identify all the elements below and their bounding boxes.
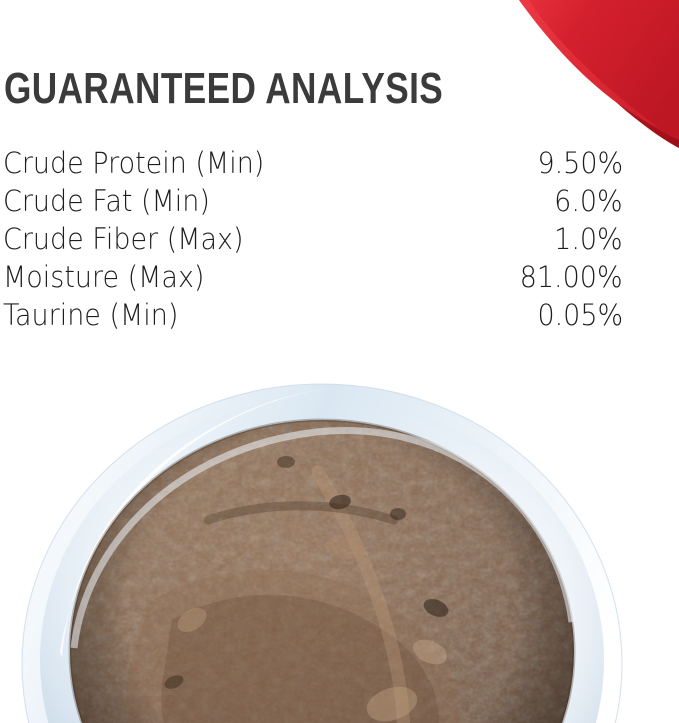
swoosh-highlight-edge: [519, 0, 659, 128]
swoosh-main-shape: [519, 0, 679, 140]
nutrient-value: 0.05%: [537, 298, 623, 332]
nutrient-label: Taurine (Min): [3, 298, 178, 332]
nutrient-label: Moisture (Max): [3, 260, 204, 294]
guaranteed-analysis-panel: GUARANTEED ANALYSIS Crude Protein (Min) …: [0, 0, 679, 723]
nutrient-label: Crude Fiber (Max): [3, 222, 244, 256]
guaranteed-analysis-table: Crude Protein (Min) 9.50% Crude Fat (Min…: [3, 146, 623, 336]
nutrient-value: 81.00%: [520, 260, 623, 294]
nutrient-value: 9.50%: [537, 146, 623, 180]
swoosh-shadow-shape: [531, 0, 679, 148]
pate-food-surface: [40, 402, 610, 723]
nutrient-label: Crude Fat (Min): [3, 184, 210, 218]
nutrient-value: 6.0%: [554, 184, 623, 218]
page-title: GUARANTEED ANALYSIS: [4, 66, 443, 112]
nutrient-label: Crude Protein (Min): [3, 146, 264, 180]
table-row: Crude Protein (Min) 9.50%: [3, 146, 623, 184]
nutrient-value: 1.0%: [554, 222, 623, 256]
table-row: Crude Fiber (Max) 1.0%: [3, 222, 623, 260]
table-row: Moisture (Max) 81.00%: [3, 260, 623, 298]
table-row: Taurine (Min) 0.05%: [3, 298, 623, 336]
table-row: Crude Fat (Min) 6.0%: [3, 184, 623, 222]
cat-food-bowl-photo: [0, 352, 679, 723]
